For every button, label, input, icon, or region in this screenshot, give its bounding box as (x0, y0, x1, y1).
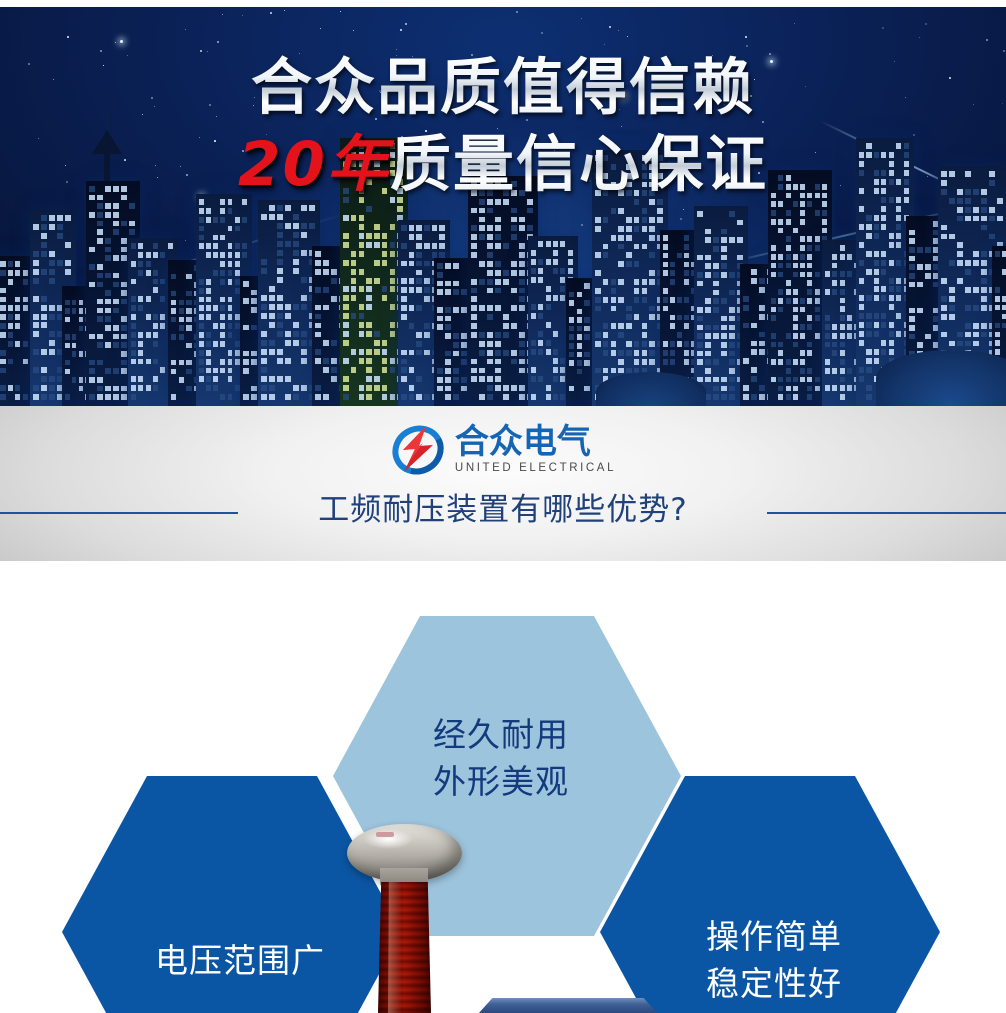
hero-banner: 合众品质值得信赖 20年质量信心保证 (0, 0, 1006, 406)
insulator-highlight (388, 882, 402, 1013)
hero-headline-group: 合众品质值得信赖 20年质量信心保证 (0, 52, 1006, 202)
corona-shield-label (376, 832, 394, 837)
feature-hex-voltage-label: 电压范围广 (155, 937, 325, 984)
insulator-column (378, 882, 431, 1013)
feature-hex-durable-label: 经久耐用外形美观 (433, 711, 569, 805)
hero-headline-line2-rest: 质量信心保证 (390, 129, 768, 200)
company-logo[interactable]: 合众电气 UNITED ELECTRICAL (0, 418, 1006, 480)
features-section: 电压范围广 操作简单稳定性好 经久耐用外形美观 (0, 561, 1006, 1013)
product-base-plate (478, 998, 658, 1013)
logo-chinese-name: 合众电气 (455, 425, 591, 459)
product-photo-transformer (336, 824, 471, 1013)
logo-english-name: UNITED ELECTRICAL (455, 462, 616, 474)
logo-wordmark: 合众电气 UNITED ELECTRICAL (455, 425, 616, 474)
hero-headline-line1: 合众品质值得信赖 (0, 52, 1006, 124)
feature-hex-operation-label: 操作简单稳定性好 (706, 913, 842, 1007)
section-subtitle: 工频耐压装置有哪些优势? (0, 484, 1006, 529)
hero-years-number: 20年 (238, 129, 390, 200)
top-white-strip (0, 0, 1006, 7)
lightning-bolt-ellipse-icon (390, 423, 446, 475)
product-detail-page: 合众品质值得信赖 20年质量信心保证 合众电气 UNITED ELECTRICA… (0, 0, 1006, 1013)
hero-headline-line2: 20年质量信心保证 (0, 128, 1006, 202)
